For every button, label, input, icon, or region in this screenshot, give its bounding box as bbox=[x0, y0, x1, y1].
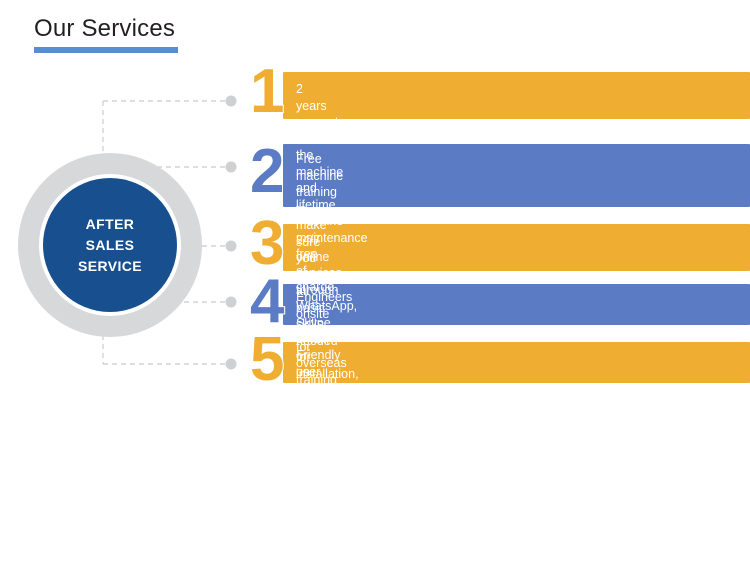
service-row-4-number: 4 bbox=[250, 271, 283, 333]
connector-dot-5 bbox=[226, 359, 237, 370]
page-title-block: Our Services bbox=[34, 14, 178, 53]
hub-label-line-2: SALES bbox=[86, 235, 135, 256]
connector-dot-3 bbox=[226, 241, 237, 252]
page-title: Our Services bbox=[34, 14, 178, 44]
service-row-5-number: 5 bbox=[250, 329, 283, 391]
service-row-1-bar bbox=[283, 72, 750, 119]
title-underline bbox=[34, 47, 178, 53]
connector-dot-1 bbox=[226, 96, 237, 107]
connector-dot-2 bbox=[226, 162, 237, 173]
hub-label-line-1: AFTER bbox=[86, 214, 135, 235]
hub-inner-circle: AFTER SALES SERVICE bbox=[43, 178, 177, 312]
service-row-3-number: 3 bbox=[250, 213, 283, 275]
service-row-2-bar bbox=[283, 144, 750, 207]
after-sales-service-hub: AFTER SALES SERVICE bbox=[18, 153, 202, 337]
service-row-1-number: 1 bbox=[250, 61, 283, 123]
connector-dot-4 bbox=[226, 297, 237, 308]
service-row-2-number: 2 bbox=[250, 141, 283, 203]
hub-label-line-3: SERVICE bbox=[78, 256, 142, 277]
